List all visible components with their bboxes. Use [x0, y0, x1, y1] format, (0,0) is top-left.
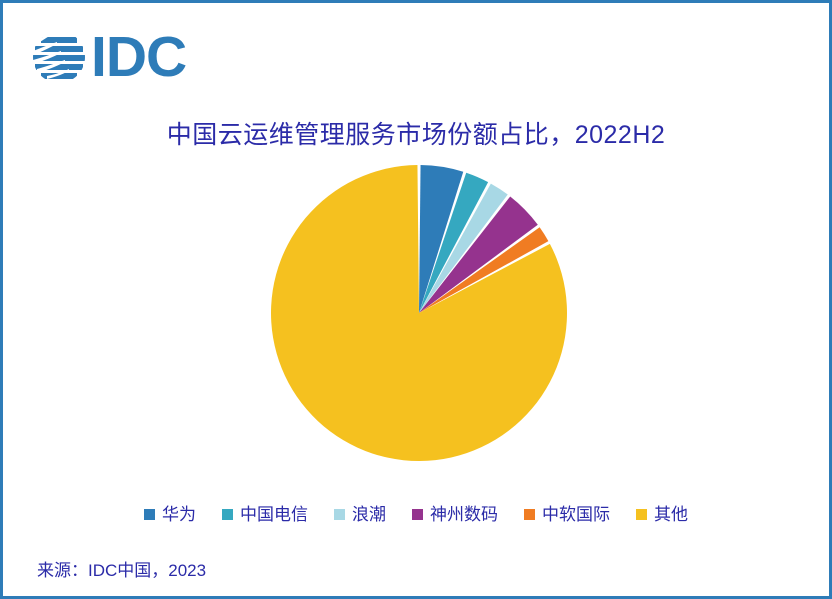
pie-chart-svg [269, 163, 569, 463]
legend-item[interactable]: 华为 [144, 506, 196, 523]
legend-item[interactable]: 中国电信 [222, 506, 308, 523]
legend-label: 神州数码 [430, 506, 498, 523]
chart-legend: 华为中国电信浪潮神州数码中软国际其他 [3, 506, 829, 523]
pie-slices [271, 165, 567, 461]
legend-item[interactable]: 其他 [636, 506, 688, 523]
legend-label: 华为 [162, 506, 196, 523]
idc-wordmark: IDC [91, 29, 186, 85]
legend-swatch-icon [636, 509, 647, 520]
chart-page: IDC 中国云运维管理服务市场份额占比，2022H2 华为中国电信浪潮神州数码中… [0, 0, 832, 599]
source-note: 来源：IDC中国，2023 [37, 556, 206, 581]
legend-item[interactable]: 神州数码 [412, 506, 498, 523]
legend-label: 中软国际 [542, 506, 610, 523]
idc-globe-logo-icon [31, 29, 87, 85]
legend-item[interactable]: 浪潮 [334, 506, 386, 523]
legend-label: 浪潮 [352, 506, 386, 523]
legend-swatch-icon [524, 509, 535, 520]
legend-swatch-icon [144, 509, 155, 520]
legend-swatch-icon [222, 509, 233, 520]
legend-swatch-icon [334, 509, 345, 520]
legend-item[interactable]: 中软国际 [524, 506, 610, 523]
legend-swatch-icon [412, 509, 423, 520]
idc-logo: IDC [31, 29, 186, 85]
chart-title: 中国云运维管理服务市场份额占比，2022H2 [3, 115, 829, 151]
legend-label: 其他 [654, 506, 688, 523]
pie-chart [3, 163, 832, 493]
legend-label: 中国电信 [240, 506, 308, 523]
